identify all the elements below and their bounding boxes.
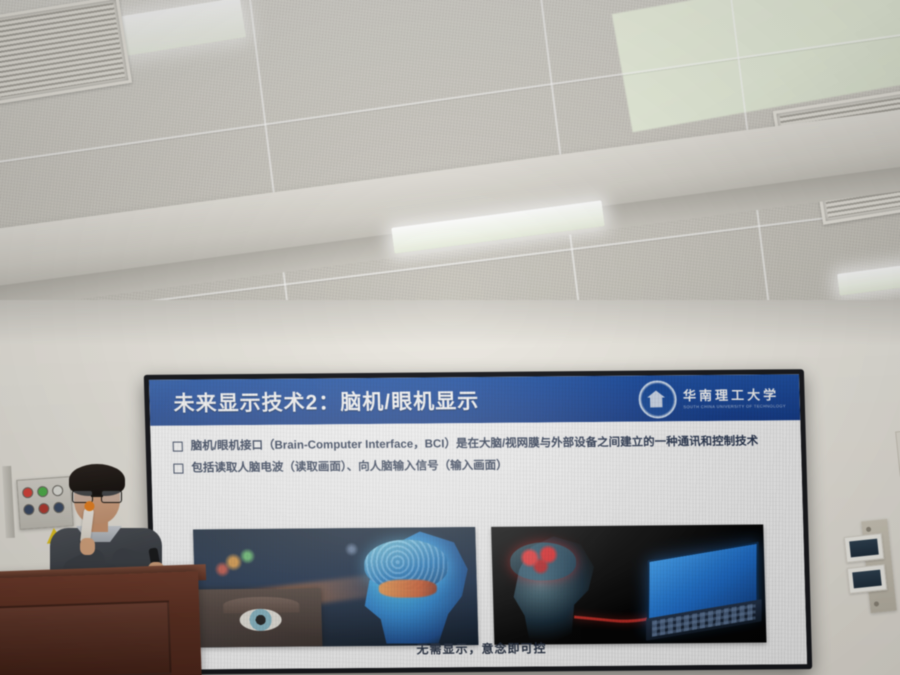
figure-brain-head-night-road: [193, 527, 478, 647]
presentation-screen[interactable]: 未来显示技术2：脑机/眼机显示 华南理工大学 SOUTH CHINA UNIVE…: [144, 369, 812, 675]
brain-stem-illustration: [379, 579, 438, 597]
eye-iris: [239, 609, 282, 631]
av-wall-plate-lower[interactable]: [847, 564, 888, 594]
podium-front-panel: [0, 600, 172, 675]
bullet-text: 脑机/眼机接口（Brain-Computer Interface，BCI）是在大…: [191, 433, 759, 457]
presenter-left-hand: [80, 538, 95, 555]
square-bullet-icon: [173, 442, 183, 452]
ceiling: [0, 0, 900, 340]
slide-bullet-list: 脑机/眼机接口（Brain-Computer Interface，BCI）是在大…: [150, 420, 802, 479]
university-name-en: SOUTH CHINA UNIVERSITY OF TECHNOLOGY: [683, 404, 786, 409]
wall-shadow: [0, 300, 900, 346]
lecture-room-photo: 未来显示技术2：脑机/眼机显示 华南理工大学 SOUTH CHINA UNIVE…: [0, 0, 900, 675]
university-seal-icon: [638, 380, 677, 418]
university-name-cn: 华南理工大学: [683, 388, 786, 402]
bullet-text: 包括读取人脑电波（读取画面）、向人脑输入信号（输入画面）: [191, 457, 508, 479]
slide-title: 未来显示技术2：脑机/眼机显示: [173, 385, 479, 418]
slide-body: 脑机/眼机接口（Brain-Computer Interface，BCI）是在大…: [150, 420, 807, 670]
screen-bezel: 未来显示技术2：脑机/眼机显示 华南理工大学 SOUTH CHINA UNIVE…: [144, 369, 812, 675]
list-item: 脑机/眼机接口（Brain-Computer Interface，BCI）是在大…: [173, 432, 780, 456]
slide-title-bar: 未来显示技术2：脑机/眼机显示 华南理工大学 SOUTH CHINA UNIVE…: [149, 374, 800, 426]
podium: [0, 571, 202, 675]
university-logo: 华南理工大学 SOUTH CHINA UNIVERSITY OF TECHNOL…: [638, 379, 787, 418]
slide-surface: 未来显示技术2：脑机/眼机显示 华南理工大学 SOUTH CHINA UNIVE…: [149, 374, 807, 670]
av-wall-plate-upper[interactable]: [844, 533, 885, 563]
eye-closeup-inset: [195, 588, 323, 647]
figure-brain-to-laptop: [491, 525, 766, 645]
glasses-icon: [72, 490, 122, 501]
red-brain-illustration: [510, 542, 577, 581]
list-item: 包括读取人脑电波（读取画面）、向人脑输入信号（输入画面）: [173, 454, 780, 478]
slide-figure-group: [153, 524, 807, 655]
